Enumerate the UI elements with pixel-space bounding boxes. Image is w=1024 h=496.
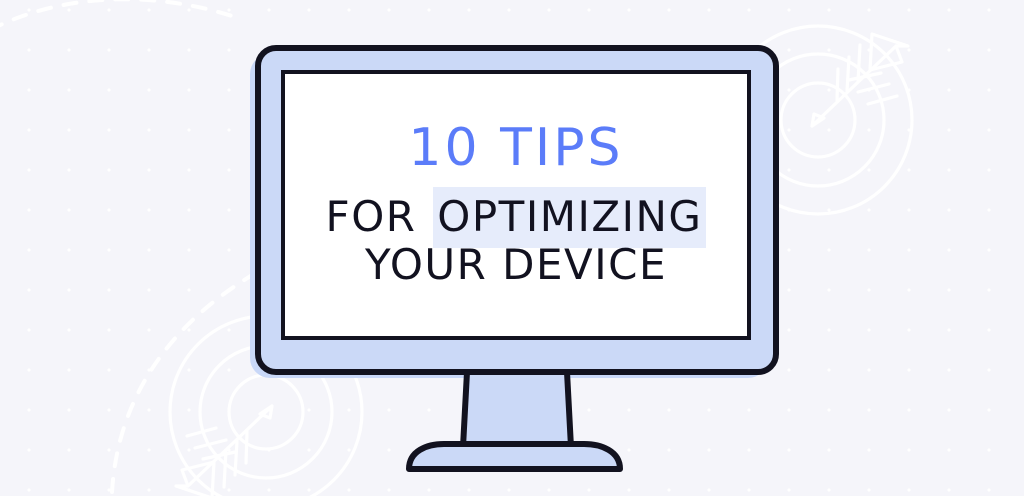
headline-subtitle-line-2: YOUR DEVICE — [365, 244, 667, 286]
subtitle-highlight: OPTIMIZING — [433, 187, 706, 248]
monitor-stand-neck — [463, 372, 571, 447]
poster-canvas: 10 TIPS FOR OPTIMIZING YOUR DEVICE — [0, 0, 1024, 496]
subtitle-prefix: FOR — [326, 192, 434, 241]
headline-subtitle-line-1: FOR OPTIMIZING — [326, 196, 707, 238]
monitor-stand-base — [409, 444, 620, 469]
screen-text-block: 10 TIPS FOR OPTIMIZING YOUR DEVICE — [283, 72, 749, 336]
headline-title: 10 TIPS — [408, 122, 623, 174]
